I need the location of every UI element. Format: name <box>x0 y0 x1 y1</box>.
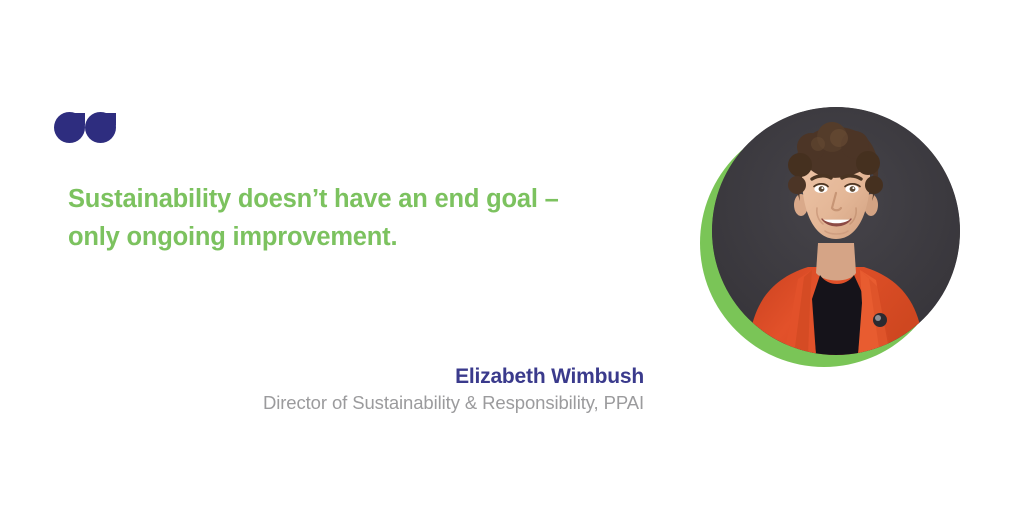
quote-line-2: only ongoing improvement. <box>68 218 668 256</box>
portrait <box>700 107 962 369</box>
quote-card: Sustainability doesn’t have an end goal … <box>0 0 1024 512</box>
attribution: Elizabeth Wimbush Director of Sustainabi… <box>120 363 644 416</box>
opening-quote-icon <box>54 94 124 164</box>
quote-line-1: Sustainability doesn’t have an end goal … <box>68 180 668 218</box>
attribution-name: Elizabeth Wimbush <box>120 363 644 390</box>
attribution-title: Director of Sustainability & Responsibil… <box>120 390 644 416</box>
quote-text: Sustainability doesn’t have an end goal … <box>68 180 668 256</box>
portrait-photo <box>712 107 960 355</box>
